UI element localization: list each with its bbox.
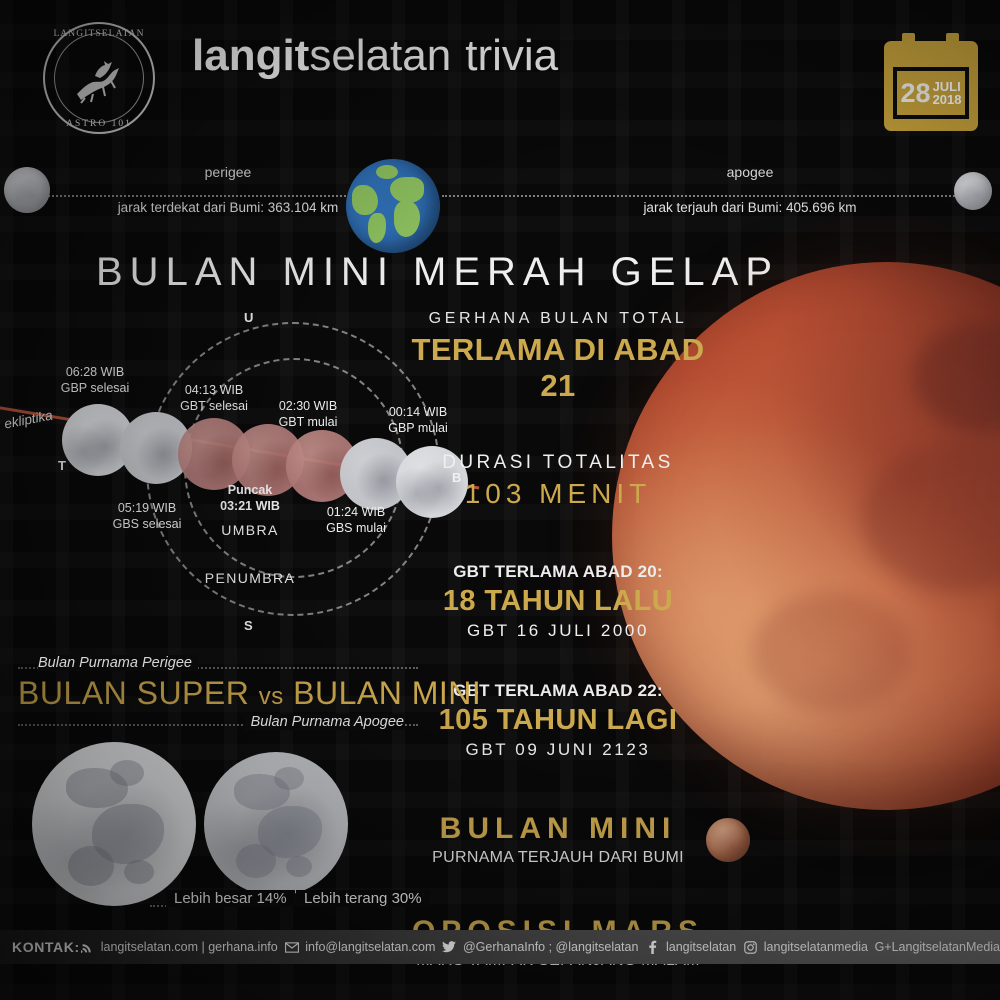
comparison-bottom-caption: Bulan Purnama Apogee bbox=[245, 714, 404, 730]
vignette-overlay bbox=[0, 0, 1000, 1000]
infographic-canvas: LANGITSELATAN ASTRO 101 langitselatantri… bbox=[0, 0, 1000, 1000]
comparison-top-caption: Bulan Purnama Perigee bbox=[38, 655, 198, 671]
